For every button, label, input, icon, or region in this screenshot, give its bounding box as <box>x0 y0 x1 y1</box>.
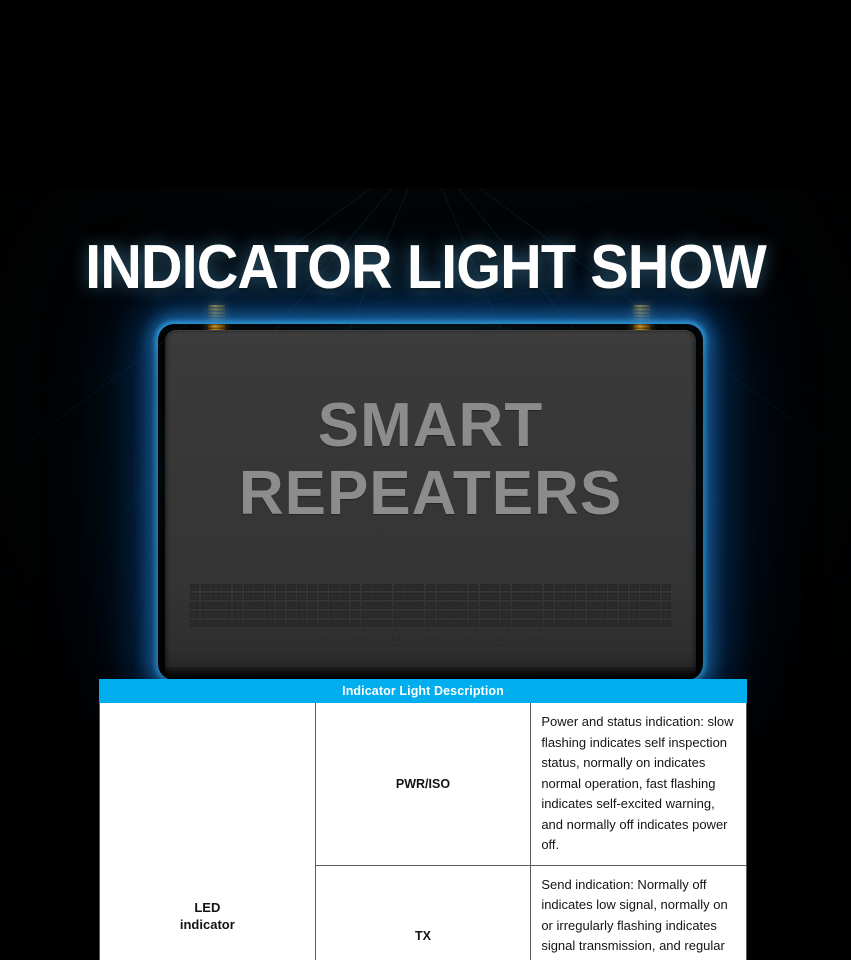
vent-hole <box>469 584 478 591</box>
vent-hole <box>630 593 639 600</box>
vent-hole <box>383 611 392 618</box>
vent-hole <box>587 611 596 618</box>
vent-hole <box>254 611 263 618</box>
vent-hole <box>565 584 574 591</box>
vent-hole <box>587 620 596 627</box>
vent-hole <box>480 584 489 591</box>
led-slot <box>357 636 365 642</box>
vent-hole <box>630 602 639 609</box>
vent-hole <box>662 620 671 627</box>
vent-hole <box>555 620 564 627</box>
vent-hole <box>362 611 371 618</box>
vent-hole <box>480 620 489 627</box>
vent-hole <box>555 602 564 609</box>
vent-hole <box>522 593 531 600</box>
vent-hole <box>544 602 553 609</box>
table-cell-indicator-name: TX <box>315 865 531 960</box>
vent-hole <box>619 593 628 600</box>
vent-hole <box>415 593 424 600</box>
vent-hole <box>404 584 413 591</box>
vent-hole <box>490 584 499 591</box>
vent-hole <box>319 593 328 600</box>
vent-hole <box>522 602 531 609</box>
vent-hole <box>587 584 596 591</box>
promo-page: INDICATOR LIGHT SHOW SMART REPEATERS Ind… <box>0 0 851 960</box>
vent-hole <box>662 593 671 600</box>
indicator-light-table-wrapper: Indicator Light Description LED indicato… <box>99 679 747 960</box>
vent-hole <box>544 611 553 618</box>
vent-hole <box>640 620 649 627</box>
vent-hole <box>480 593 489 600</box>
vent-hole <box>254 593 263 600</box>
vent-hole <box>587 593 596 600</box>
vent-hole <box>319 602 328 609</box>
vent-hole <box>265 602 274 609</box>
vent-hole <box>265 593 274 600</box>
vent-hole <box>372 611 381 618</box>
vent-hole <box>651 593 660 600</box>
vent-hole <box>190 602 199 609</box>
vent-hole <box>340 602 349 609</box>
vent-hole <box>447 584 456 591</box>
vent-hole <box>608 584 617 591</box>
table-header-row: Indicator Light Description <box>100 680 747 703</box>
vent-hole <box>490 620 499 627</box>
vent-hole <box>501 584 510 591</box>
device-brand-line-2: REPEATERS <box>165 460 696 528</box>
vent-hole <box>447 602 456 609</box>
vent-hole <box>351 620 360 627</box>
vent-hole <box>576 602 585 609</box>
vent-hole <box>576 620 585 627</box>
vent-hole <box>287 593 296 600</box>
vent-hole <box>383 584 392 591</box>
vent-hole <box>211 611 220 618</box>
vent-hole <box>619 620 628 627</box>
vent-hole <box>447 611 456 618</box>
page-title: INDICATOR LIGHT SHOW <box>30 233 821 303</box>
vent-hole <box>308 611 317 618</box>
vent-hole <box>372 584 381 591</box>
vent-hole <box>329 620 338 627</box>
vent-hole <box>630 584 639 591</box>
vent-hole <box>437 611 446 618</box>
vent-hole <box>576 584 585 591</box>
vent-hole <box>372 620 381 627</box>
vent-hole <box>340 593 349 600</box>
vent-hole <box>415 584 424 591</box>
vent-hole <box>329 584 338 591</box>
vent-hole <box>201 602 210 609</box>
vent-hole <box>426 611 435 618</box>
vent-hole <box>190 584 199 591</box>
vent-hole <box>458 611 467 618</box>
vent-hole <box>222 593 231 600</box>
vent-hole <box>308 584 317 591</box>
vent-hole <box>544 620 553 627</box>
vent-hole <box>222 611 231 618</box>
vent-hole <box>265 584 274 591</box>
vent-hole <box>555 611 564 618</box>
vent-hole <box>597 593 606 600</box>
vent-hole <box>297 611 306 618</box>
vent-hole <box>383 593 392 600</box>
vent-hole <box>415 602 424 609</box>
vent-hole <box>469 620 478 627</box>
vent-hole <box>426 584 435 591</box>
vent-hole <box>404 620 413 627</box>
device-bottom-edge <box>165 667 696 675</box>
vent-hole <box>565 611 574 618</box>
vent-hole <box>597 584 606 591</box>
vent-hole <box>469 593 478 600</box>
led-slot <box>392 636 400 642</box>
device-vent-grid <box>190 584 671 627</box>
vent-hole <box>244 611 253 618</box>
vent-hole <box>244 584 253 591</box>
vent-hole <box>447 593 456 600</box>
vent-hole <box>426 593 435 600</box>
vent-hole <box>597 602 606 609</box>
led-slot <box>497 636 505 642</box>
vent-hole <box>426 602 435 609</box>
vent-hole <box>501 611 510 618</box>
vent-hole <box>351 584 360 591</box>
vent-hole <box>501 620 510 627</box>
vent-hole <box>287 602 296 609</box>
vent-hole <box>404 593 413 600</box>
vent-hole <box>404 602 413 609</box>
vent-hole <box>276 602 285 609</box>
vent-hole <box>619 584 628 591</box>
indicator-light-table: Indicator Light Description LED indicato… <box>99 679 747 960</box>
vent-hole <box>319 611 328 618</box>
vent-hole <box>244 602 253 609</box>
vent-hole <box>501 593 510 600</box>
vent-hole <box>458 593 467 600</box>
vent-hole <box>211 584 220 591</box>
led-slot <box>532 636 540 642</box>
group-label-line-1: LED <box>194 900 220 915</box>
vent-hole <box>512 620 521 627</box>
table-header-title: Indicator Light Description <box>100 680 747 703</box>
vent-hole <box>190 611 199 618</box>
vent-hole <box>608 593 617 600</box>
vent-hole <box>490 593 499 600</box>
vent-hole <box>265 620 274 627</box>
vent-hole <box>211 602 220 609</box>
vent-hole <box>501 602 510 609</box>
vent-hole <box>576 611 585 618</box>
vent-hole <box>490 602 499 609</box>
vent-hole <box>297 602 306 609</box>
vent-hole <box>383 602 392 609</box>
vent-hole <box>394 593 403 600</box>
vent-hole <box>512 584 521 591</box>
vent-hole <box>340 620 349 627</box>
table-cell-indicator-description: Send indication: Normally off indicates … <box>531 865 747 960</box>
device-body: SMART REPEATERS <box>165 330 696 675</box>
vent-hole <box>619 611 628 618</box>
vent-hole <box>630 620 639 627</box>
vent-hole <box>533 620 542 627</box>
vent-hole <box>254 620 263 627</box>
vent-hole <box>640 611 649 618</box>
vent-hole <box>608 620 617 627</box>
vent-hole <box>544 593 553 600</box>
vent-hole <box>640 584 649 591</box>
background-top-black <box>0 0 851 188</box>
vent-hole <box>640 602 649 609</box>
vent-hole <box>533 593 542 600</box>
vent-hole <box>222 584 231 591</box>
vent-hole <box>651 611 660 618</box>
vent-hole <box>233 620 242 627</box>
vent-hole <box>394 611 403 618</box>
vent-hole <box>254 584 263 591</box>
vent-hole <box>480 602 489 609</box>
vent-hole <box>394 584 403 591</box>
vent-hole <box>469 611 478 618</box>
device-brand-line-1: SMART <box>165 392 696 460</box>
vent-hole <box>362 602 371 609</box>
vent-hole <box>276 620 285 627</box>
vent-hole <box>244 620 253 627</box>
vent-hole <box>555 584 564 591</box>
vent-hole <box>276 593 285 600</box>
vent-hole <box>608 611 617 618</box>
vent-hole <box>437 602 446 609</box>
vent-hole <box>651 620 660 627</box>
vent-hole <box>565 620 574 627</box>
vent-hole <box>555 593 564 600</box>
vent-hole <box>394 602 403 609</box>
vent-hole <box>222 620 231 627</box>
vent-hole <box>297 584 306 591</box>
vent-hole <box>287 620 296 627</box>
vent-hole <box>351 611 360 618</box>
vent-hole <box>426 620 435 627</box>
device-led-indicator-row <box>165 636 696 642</box>
table-cell-indicator-description: Power and status indication: slow flashi… <box>531 703 747 866</box>
vent-hole <box>544 584 553 591</box>
device-brand-text: SMART REPEATERS <box>165 392 696 528</box>
vent-hole <box>533 584 542 591</box>
vent-hole <box>522 584 531 591</box>
vent-hole <box>362 593 371 600</box>
table-row: LED indicator PWR/ISO Power and status i… <box>100 703 747 866</box>
vent-hole <box>362 584 371 591</box>
vent-hole <box>608 602 617 609</box>
vent-hole <box>662 602 671 609</box>
vent-hole <box>308 593 317 600</box>
vent-hole <box>340 584 349 591</box>
vent-hole <box>329 611 338 618</box>
vent-hole <box>254 602 263 609</box>
vent-hole <box>308 620 317 627</box>
led-slot <box>427 636 435 642</box>
vent-hole <box>201 584 210 591</box>
vent-hole <box>319 584 328 591</box>
vent-hole <box>512 602 521 609</box>
vent-hole <box>630 611 639 618</box>
vent-hole <box>533 611 542 618</box>
vent-hole <box>640 593 649 600</box>
vent-hole <box>522 620 531 627</box>
vent-hole <box>244 593 253 600</box>
vent-hole <box>458 602 467 609</box>
vent-hole <box>437 584 446 591</box>
vent-hole <box>351 593 360 600</box>
vent-hole <box>480 611 489 618</box>
led-slot <box>322 636 330 642</box>
vent-hole <box>565 593 574 600</box>
vent-hole <box>458 584 467 591</box>
vent-hole <box>297 620 306 627</box>
vent-hole <box>211 620 220 627</box>
vent-hole <box>190 593 199 600</box>
vent-hole <box>587 602 596 609</box>
vent-hole <box>362 620 371 627</box>
vent-hole <box>512 593 521 600</box>
vent-hole <box>437 620 446 627</box>
vent-hole <box>619 602 628 609</box>
vent-hole <box>233 602 242 609</box>
vent-hole <box>651 584 660 591</box>
vent-hole <box>265 611 274 618</box>
vent-hole <box>415 620 424 627</box>
vent-hole <box>372 593 381 600</box>
vent-hole <box>222 602 231 609</box>
vent-hole <box>565 602 574 609</box>
vent-hole <box>351 602 360 609</box>
vent-hole <box>512 611 521 618</box>
vent-hole <box>190 620 199 627</box>
vent-hole <box>458 620 467 627</box>
vent-hole <box>372 602 381 609</box>
vent-hole <box>276 584 285 591</box>
vent-hole <box>233 611 242 618</box>
vent-hole <box>597 611 606 618</box>
vent-hole <box>340 611 349 618</box>
vent-hole <box>662 584 671 591</box>
vent-hole <box>308 602 317 609</box>
vent-hole <box>404 611 413 618</box>
vent-hole <box>597 620 606 627</box>
device-illustration: SMART REPEATERS <box>150 300 710 690</box>
vent-hole <box>211 593 220 600</box>
vent-hole <box>319 620 328 627</box>
vent-hole <box>329 593 338 600</box>
table-cell-group-label: LED indicator <box>100 703 316 960</box>
vent-hole <box>662 611 671 618</box>
vent-hole <box>576 593 585 600</box>
vent-hole <box>490 611 499 618</box>
group-label-line-2: indicator <box>180 917 235 932</box>
vent-hole <box>276 611 285 618</box>
led-slot <box>462 636 470 642</box>
vent-hole <box>469 602 478 609</box>
vent-hole <box>287 611 296 618</box>
vent-hole <box>287 584 296 591</box>
table-cell-indicator-name: PWR/ISO <box>315 703 531 866</box>
vent-hole <box>383 620 392 627</box>
vent-hole <box>329 602 338 609</box>
vent-hole <box>437 593 446 600</box>
vent-hole <box>447 620 456 627</box>
vent-hole <box>522 611 531 618</box>
vent-hole <box>394 620 403 627</box>
vent-hole <box>233 593 242 600</box>
vent-hole <box>233 584 242 591</box>
vent-hole <box>415 611 424 618</box>
vent-hole <box>533 602 542 609</box>
vent-hole <box>201 620 210 627</box>
vent-hole <box>651 602 660 609</box>
vent-hole <box>297 593 306 600</box>
vent-hole <box>201 593 210 600</box>
vent-hole <box>201 611 210 618</box>
